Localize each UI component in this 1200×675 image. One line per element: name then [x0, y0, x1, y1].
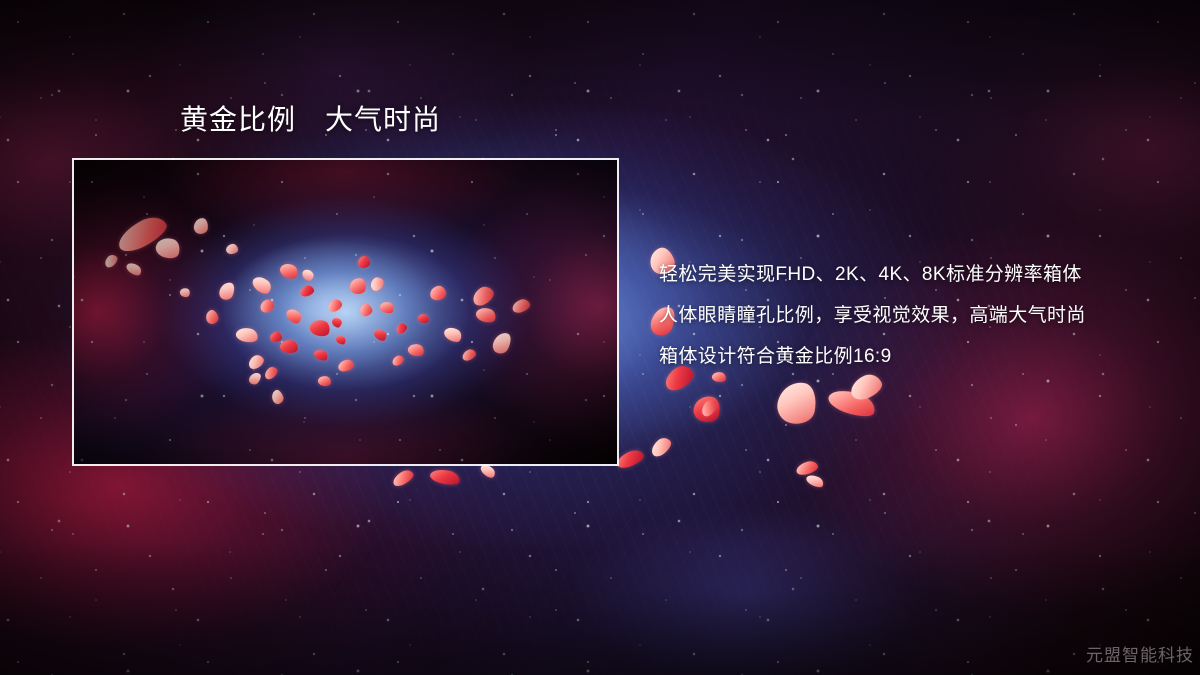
body-line-1: 轻松完美实现FHD、2K、4K、8K标准分辨率箱体 [659, 254, 1159, 295]
body-line-2: 人体眼睛瞳孔比例，享受视觉效果，高端大气时尚 [659, 295, 1159, 336]
presentation-slide: 黄金比例 大气时尚 轻松完美实现FHD、2K、4K、8K标准分辨率箱体 人体眼睛… [0, 0, 1200, 675]
photo-vignette [74, 160, 617, 464]
nebula-photo-frame [72, 158, 619, 466]
page-title: 黄金比例 大气时尚 [180, 103, 441, 137]
watermark: 元盟智能科技 [1086, 645, 1194, 667]
body-text-block: 轻松完美实现FHD、2K、4K、8K标准分辨率箱体 人体眼睛瞳孔比例，享受视觉效… [659, 254, 1159, 377]
body-line-3: 箱体设计符合黄金比例16:9 [659, 336, 1159, 377]
